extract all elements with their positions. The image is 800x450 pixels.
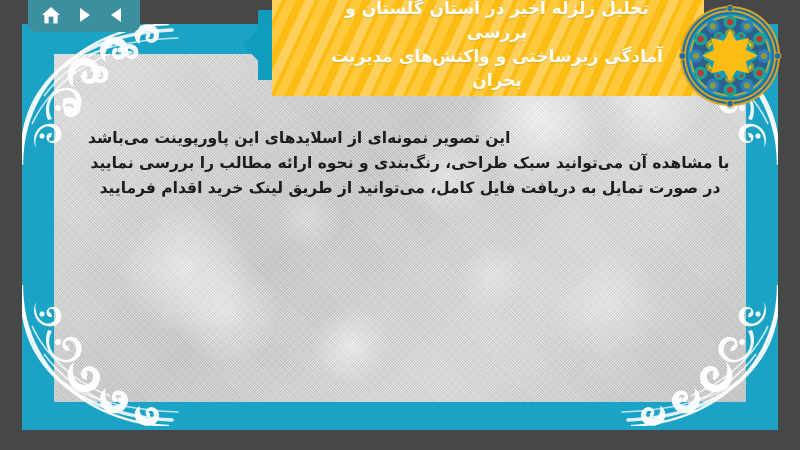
slide-title: تحلیل زلزله اخیر در استان گلستان و بررسی…: [272, 0, 704, 93]
forward-button[interactable]: [71, 3, 97, 27]
home-icon: [41, 6, 61, 25]
slide-title-line-1: تحلیل زلزله اخیر در استان گلستان و بررسی: [345, 0, 649, 43]
back-button[interactable]: [104, 3, 130, 27]
body-line-2: با مشاهده آن می‌توانید سبک طراحی، رنگ‌بن…: [60, 151, 760, 176]
home-button[interactable]: [38, 3, 64, 27]
triangle-right-icon: [75, 6, 93, 24]
slide-content-panel: [54, 54, 746, 402]
slide-title-line-2: آمادگی زیرساختی و واکنش‌های مدیریت: [331, 47, 663, 67]
triangle-left-icon: [108, 6, 126, 24]
body-line-1: این تصویر نمونه‌ای از اسلایدهای این پاور…: [60, 126, 760, 151]
persian-medallion-ornament: [678, 4, 782, 108]
body-line-3: در صورت تمایل به دریافت فایل کامل، می‌تو…: [60, 176, 760, 201]
slide-viewer: تحلیل زلزله اخیر در استان گلستان و بررسی…: [0, 0, 800, 450]
slide-body-text: این تصویر نمونه‌ای از اسلایدهای این پاور…: [60, 126, 760, 201]
navigation-bar: [28, 0, 140, 32]
slide-title-line-3: بحران: [472, 71, 522, 91]
slide-title-banner: تحلیل زلزله اخیر در استان گلستان و بررسی…: [272, 0, 704, 96]
